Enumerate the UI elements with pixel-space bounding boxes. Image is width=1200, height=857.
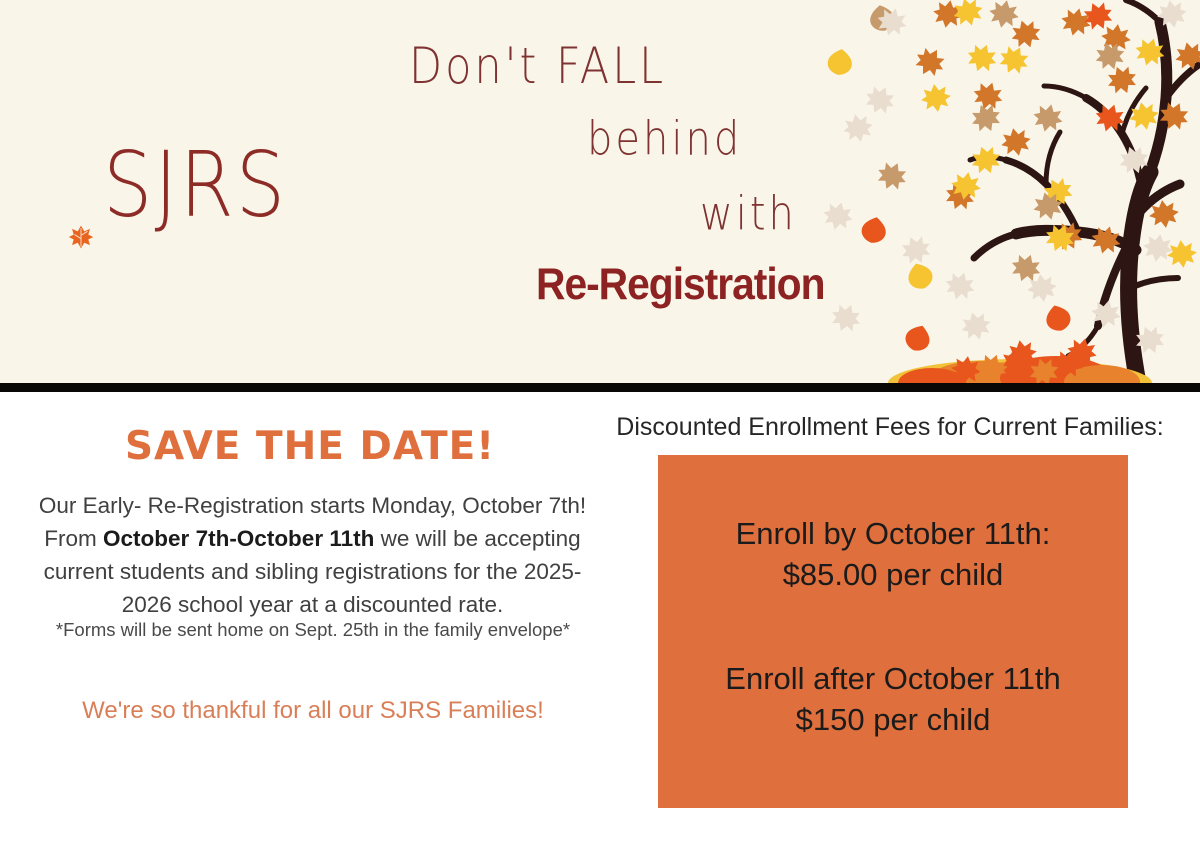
fees-heading: Discounted Enrollment Fees for Current F… xyxy=(588,413,1192,442)
announcement-paragraph: Our Early- Re-Registration starts Monday… xyxy=(20,489,605,621)
headline-line-1: Don't FALL xyxy=(409,38,666,96)
save-the-date-title: SAVE THE DATE! xyxy=(0,424,620,469)
forms-note: *Forms will be sent home on Sept. 25th i… xyxy=(18,619,608,641)
late-fee-line-2: $150 per child xyxy=(658,699,1128,740)
paragraph-date-range: October 7th-October 11th xyxy=(103,526,374,551)
early-fee-line-1: Enroll by October 11th: xyxy=(658,513,1128,554)
early-fee-block: Enroll by October 11th: $85.00 per child xyxy=(658,513,1128,595)
school-logo: SJRS xyxy=(103,139,287,229)
early-fee-line-2: $85.00 per child xyxy=(658,554,1128,595)
re-registration-wordmark: Re-Registration xyxy=(536,260,824,310)
late-fee-line-1: Enroll after October 11th xyxy=(658,658,1128,699)
late-fee-block: Enroll after October 11th $150 per child xyxy=(658,658,1128,740)
headline-line-3: with xyxy=(700,188,797,241)
headline-line-2: behind xyxy=(587,113,742,166)
thank-you-message: We're so thankful for all our SJRS Famil… xyxy=(18,697,608,725)
fees-box: Enroll by October 11th: $85.00 per child… xyxy=(658,455,1128,808)
autumn-tree-illustration xyxy=(820,0,1200,383)
header-banner: SJRS Don't FALL behind with Re-Registrat… xyxy=(0,0,1200,383)
logo-leaf-icon xyxy=(68,222,94,252)
header-divider-rule xyxy=(0,383,1200,392)
